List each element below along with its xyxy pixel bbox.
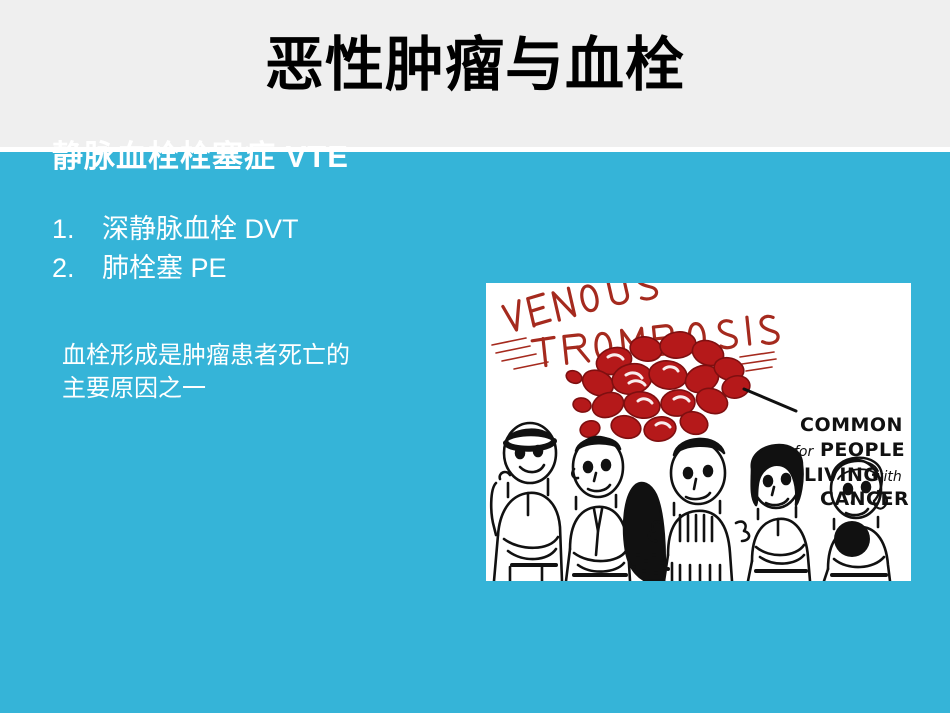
venous-thrombosis-illustration: COMMON for PEOPLE LIVING with CANCER [486,283,911,581]
list-item: 1. 深静脉血栓 DVT [52,210,462,249]
numbered-list: 1. 深静脉血栓 DVT 2. 肺栓塞 PE [52,210,462,288]
list-item-label: 肺栓塞 PE [102,249,227,288]
left-text-column: 静脉血栓栓塞症 VTE 1. 深静脉血栓 DVT 2. 肺栓塞 PE 血栓形成是… [52,140,462,405]
list-item-label: 深静脉血栓 DVT [102,210,299,249]
note-paragraph: 血栓形成是肿瘤患者死亡的主要原因之一 [62,340,352,405]
svg-text:COMMON: COMMON [800,414,903,436]
section-heading: 静脉血栓栓塞症 VTE [52,140,462,174]
list-item-marker: 1. [52,210,102,249]
slide-title: 恶性肿瘤与血栓 [0,32,950,100]
illustration-canvas: COMMON for PEOPLE LIVING with CANCER [486,283,911,581]
list-item-marker: 2. [52,249,102,288]
presentation-slide: 恶性肿瘤与血栓 静脉血栓栓塞症 VTE 1. 深静脉血栓 DVT 2. 肺栓塞 … [0,0,950,713]
list-item: 2. 肺栓塞 PE [52,249,462,288]
